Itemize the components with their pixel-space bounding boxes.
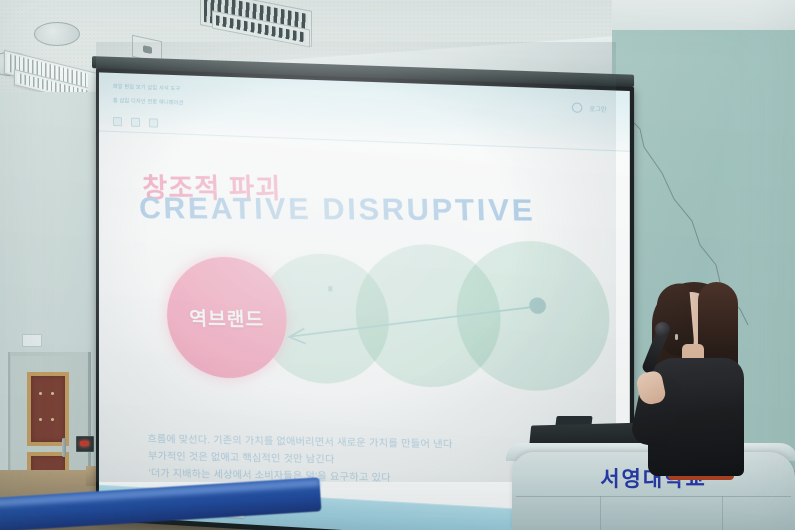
menu-bar-row-2[interactable]: 홈 삽입 디자인 전환 애니메이션 <box>113 97 184 107</box>
toolbar-icon[interactable] <box>149 118 158 127</box>
login-label[interactable]: 로그인 <box>589 103 606 113</box>
podium-seam <box>516 496 791 497</box>
door-panel-upper <box>27 372 69 446</box>
menu-bar-row-1[interactable]: 파일 편집 보기 삽입 서식 도구 <box>113 83 180 92</box>
door-stud <box>39 418 42 421</box>
toolbar-icon[interactable] <box>113 117 122 126</box>
door-stud <box>39 392 42 395</box>
ceiling-speaker-icon <box>34 22 80 46</box>
toolbar-icon[interactable] <box>131 118 140 127</box>
door-indicator-light <box>22 334 42 347</box>
door-stud <box>51 418 54 421</box>
toolbar-icon-group[interactable] <box>113 117 158 128</box>
microphone-head-icon <box>655 322 670 337</box>
presenter <box>630 276 760 476</box>
account-area[interactable]: 로그인 <box>572 102 606 114</box>
diagram-circles: 역브랜드 <box>136 238 615 427</box>
door-handle[interactable] <box>62 438 66 457</box>
mouse-cursor-artifact <box>328 286 332 291</box>
menu-bar-text-1: 파일 편집 보기 삽입 서식 도구 <box>113 83 180 92</box>
podium-seam <box>600 496 601 530</box>
lecture-hall-photo: 파일 편집 보기 삽입 서식 도구 홈 삽입 디자인 전환 애니메이션 <box>0 0 795 530</box>
menu-bar-text-2: 홈 삽입 디자인 전환 애니메이션 <box>113 97 184 107</box>
podium-seam <box>722 496 723 530</box>
earring <box>675 334 678 340</box>
help-circle-icon[interactable] <box>572 102 583 113</box>
door-stud <box>51 392 54 395</box>
slide-title-english: CREATIVE DISRUPTIVE <box>139 192 537 229</box>
direction-arrow <box>136 238 615 427</box>
